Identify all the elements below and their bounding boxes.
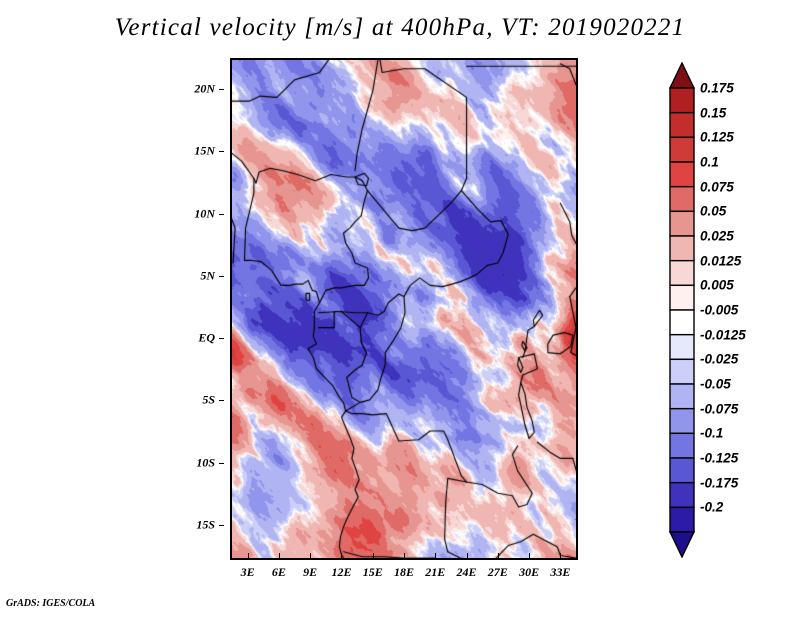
colorbar-tick-label: 0.0125 (700, 253, 741, 268)
colorbar-tick-label: 0.075 (700, 179, 734, 194)
colorbar-tick-label: 0.025 (700, 229, 734, 244)
lat-tick-label: 15N (194, 144, 215, 159)
lon-tick-label: 15E (363, 565, 383, 580)
lat-tick-label: 10N (194, 206, 215, 221)
lon-tick-label: 3E (241, 565, 255, 580)
lat-tick-label: 20N (194, 82, 215, 97)
lon-tick (467, 553, 468, 558)
country-borders-overlay (232, 60, 576, 558)
lon-tick-label: 21E (425, 565, 445, 580)
lon-tick-label: 18E (394, 565, 414, 580)
lon-tick (279, 553, 280, 558)
lon-tick-label: 24E (457, 565, 477, 580)
lat-tick-label: 10S (196, 455, 215, 470)
latitude-axis: 20N15N10N5NEQ5S10S15S (176, 58, 224, 560)
lon-tick (341, 553, 342, 558)
colorbar-tick-label: 0.15 (700, 105, 726, 120)
colorbar-tick-label: 0.175 (700, 81, 734, 96)
lon-tick-label: 33E (550, 565, 570, 580)
colorbar (669, 62, 695, 558)
lon-tick (435, 553, 436, 558)
longitude-axis: 3E6E9E12E15E18E21E24E27E30E33E (230, 562, 578, 584)
lat-tick (219, 338, 224, 339)
colorbar-tick-label: 0.125 (700, 130, 734, 145)
lat-tick-label: 15S (196, 517, 215, 532)
colorbar-tick-label: 0.005 (700, 278, 734, 293)
lon-tick (529, 553, 530, 558)
lat-tick-label: 5S (202, 393, 215, 408)
map-plot-area (230, 58, 578, 560)
lon-tick (248, 553, 249, 558)
colorbar-tick-label: -0.1 (700, 426, 723, 441)
lat-tick-label: EQ (198, 331, 215, 346)
colorbar-tick-label: -0.125 (700, 451, 738, 466)
lon-tick-label: 27E (488, 565, 508, 580)
lat-tick (219, 89, 224, 90)
lon-tick-label: 12E (331, 565, 351, 580)
lon-tick (310, 553, 311, 558)
lon-tick (373, 553, 374, 558)
colorbar-tick-label: -0.2 (700, 500, 723, 515)
lat-tick-label: 5N (200, 268, 215, 283)
lat-tick (219, 400, 224, 401)
page-title: Vertical velocity [m/s] at 400hPa, VT: 2… (0, 14, 800, 42)
lon-tick-label: 9E (303, 565, 317, 580)
colorbar-tick-label: -0.075 (700, 401, 738, 416)
lon-tick-label: 30E (519, 565, 539, 580)
colorbar-tick-label: -0.05 (700, 377, 731, 392)
colorbar-tick-label: -0.005 (700, 303, 738, 318)
lat-tick (219, 525, 224, 526)
lat-tick (219, 463, 224, 464)
colorbar-swatches (669, 62, 695, 558)
grads-credit: GrADS: IGES/COLA (6, 598, 95, 609)
lat-tick (219, 276, 224, 277)
lon-tick (498, 553, 499, 558)
colorbar-tick-label: -0.025 (700, 352, 738, 367)
lon-tick (404, 553, 405, 558)
colorbar-tick-label: -0.175 (700, 475, 738, 490)
lat-tick (219, 151, 224, 152)
colorbar-tick-label: -0.0125 (700, 327, 746, 342)
lon-tick-label: 6E (272, 565, 286, 580)
colorbar-tick-label: 0.05 (700, 204, 726, 219)
colorbar-labels: 0.1750.150.1250.10.0750.050.0250.01250.0… (700, 62, 798, 558)
lat-tick (219, 214, 224, 215)
lon-tick (560, 553, 561, 558)
colorbar-tick-label: 0.1 (700, 155, 719, 170)
